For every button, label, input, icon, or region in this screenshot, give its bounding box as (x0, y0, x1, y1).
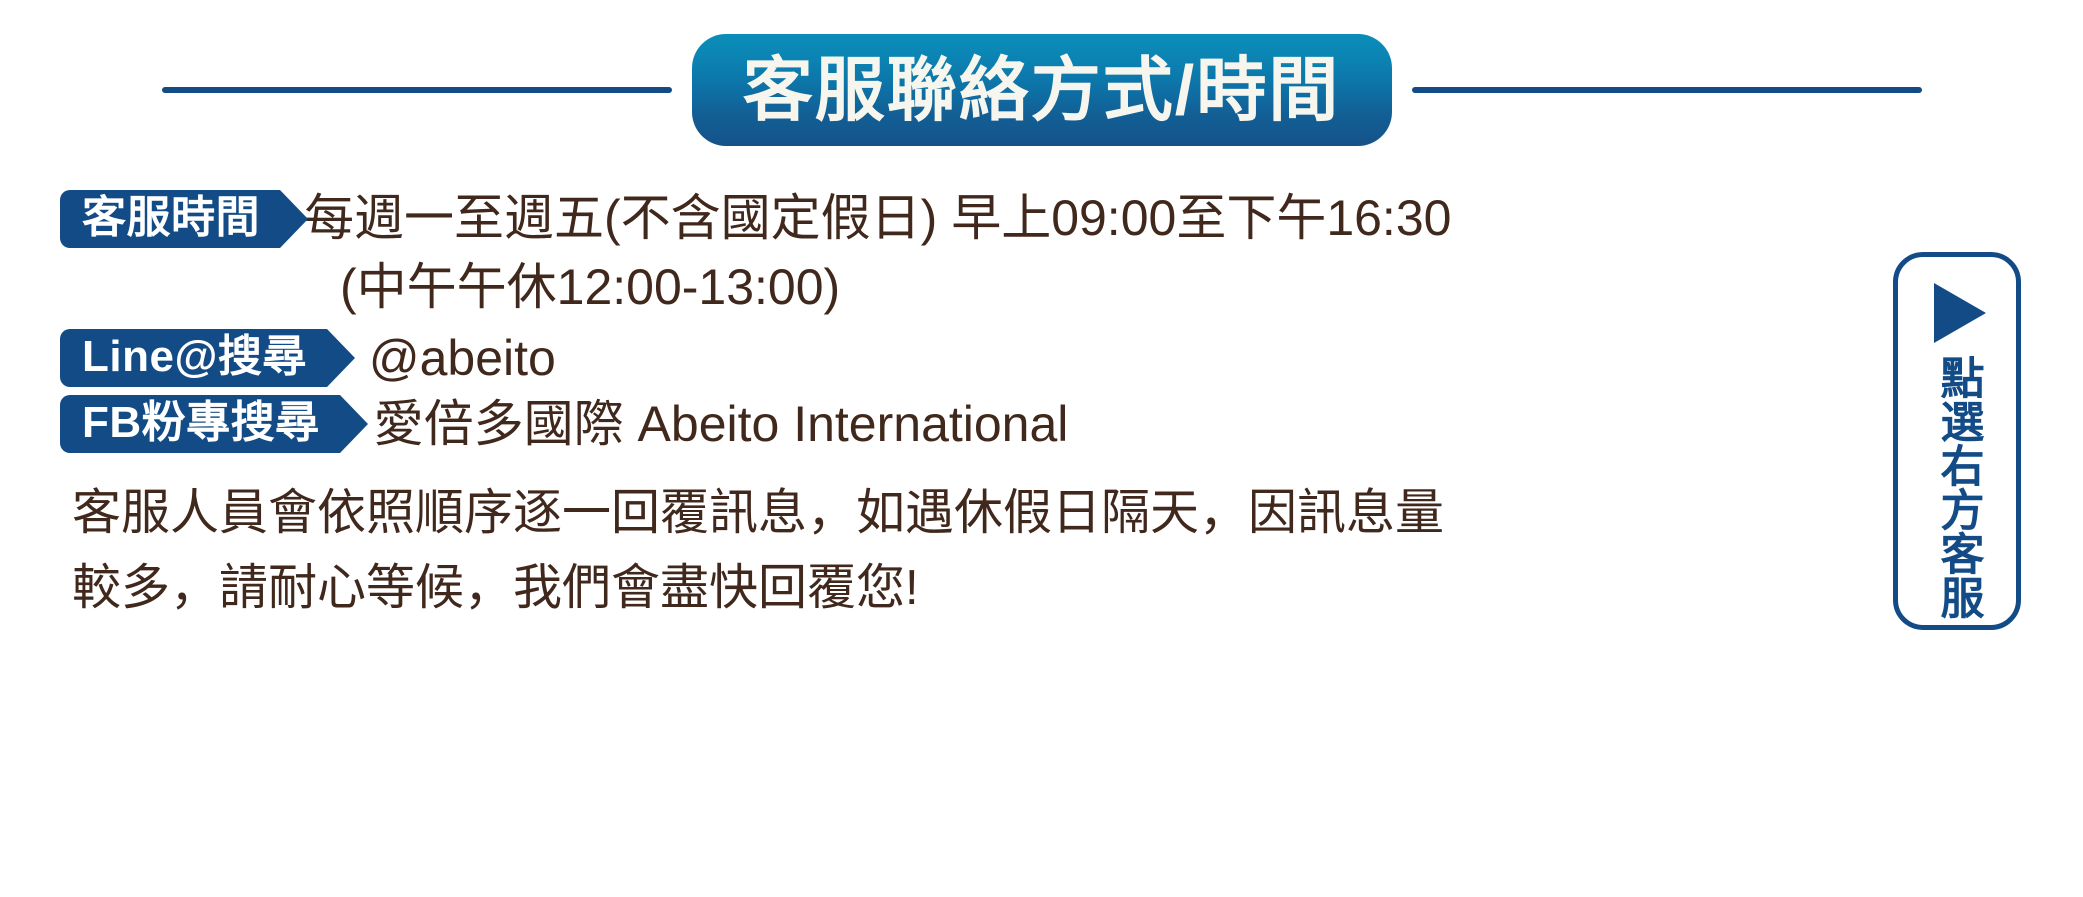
service-hours-block: 客服時間 每週一至週五(不含國定假日) 早上09:00至下午16:30 (中午午… (60, 186, 1850, 320)
row-fb-page: FB粉專搜尋 愛倍多國際 Abeito International (60, 392, 1850, 456)
content: 客服時間 每週一至週五(不含國定假日) 早上09:00至下午16:30 (中午午… (60, 186, 1850, 628)
note-paragraph: 客服人員會依照順序逐一回覆訊息，如遇休假日隔天，因訊息量 較多，請耐心等候，我們… (72, 478, 1792, 624)
note-line-1: 客服人員會依照順序逐一回覆訊息，如遇休假日隔天，因訊息量 (72, 478, 1792, 549)
play-triangle-icon (1934, 283, 1986, 343)
service-hours-line1: 每週一至週五(不含國定假日) 早上09:00至下午16:30 (304, 186, 1451, 251)
badge-fb-search: FB粉專搜尋 (60, 395, 340, 453)
row-line-id: Line@搜尋 @abeito (60, 326, 1850, 390)
cta-label: 點選右方客服 (1935, 355, 1980, 619)
row-service-hours: 客服時間 每週一至週五(不含國定假日) 早上09:00至下午16:30 (60, 186, 1850, 251)
note-line-2: 較多，請耐心等候，我們會盡快回覆您! (72, 553, 1792, 624)
page-title: 客服聯絡方式/時間 (743, 55, 1340, 125)
cta-click-right-support[interactable]: 點選右方客服 (1893, 252, 2021, 630)
header-rule-left (162, 87, 672, 93)
badge-line-search: Line@搜尋 (60, 329, 327, 387)
contact-info-banner: 客服聯絡方式/時間 客服時間 每週一至週五(不含國定假日) 早上09:00至下午… (0, 0, 2083, 897)
header: 客服聯絡方式/時間 (0, 34, 2083, 146)
service-hours-line2: (中午午休12:00-13:00) (340, 255, 1850, 320)
line-id-value[interactable]: @abeito (369, 326, 556, 390)
header-rule-right (1412, 87, 1922, 93)
fb-page-value[interactable]: 愛倍多國際 Abeito International (374, 392, 1069, 456)
badge-service-hours: 客服時間 (60, 190, 280, 248)
title-pill: 客服聯絡方式/時間 (692, 34, 1392, 146)
